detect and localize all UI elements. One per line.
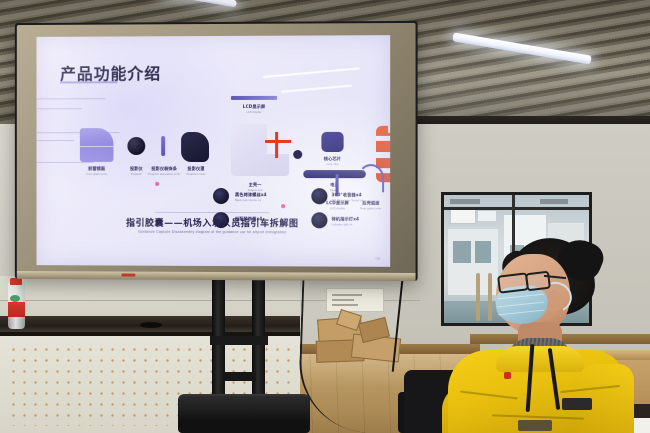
part-lcd-bar <box>231 96 277 100</box>
caption-divider <box>155 212 269 213</box>
part-shell2-notch <box>376 152 390 158</box>
part-label-projector-lens: 投影仪罩 <box>177 166 215 172</box>
part-screw-black <box>213 188 229 204</box>
door-decal <box>450 199 480 204</box>
water-bottle-label <box>8 302 25 317</box>
glasses-right-lens <box>525 271 551 292</box>
display-screen[interactable]: 产品功能介绍 前窗镜面 Front glass cover 投影仪 Projec… <box>36 35 390 267</box>
part-shell2-notch <box>376 136 390 141</box>
lanyard-clip-icon <box>504 372 511 379</box>
slide-decor-line <box>281 85 351 93</box>
part-label-battery: 电池 <box>317 182 351 188</box>
part-label-antenna: 后壳弧面 <box>354 200 388 206</box>
door-top-rail <box>444 207 589 210</box>
jacket-pocket <box>562 398 592 410</box>
part-camera <box>127 137 145 155</box>
exterior-ac-unit <box>478 211 496 221</box>
stand-joint <box>210 336 268 345</box>
slide-decor-line <box>36 140 73 141</box>
part-led-strip <box>336 174 339 196</box>
slide-accent-dot <box>155 182 159 186</box>
part-label-main-shell-1: 主壳一 <box>235 182 275 188</box>
part-sublabel-antenna: Rear glass cover <box>352 207 390 210</box>
part-sublabel-screw-black: Black paint screw x4 <box>235 199 295 202</box>
part-shell2-tab <box>388 126 390 133</box>
slide-page-number: 08 <box>376 256 381 261</box>
slide-accent-dot <box>281 204 285 208</box>
slide-decor-line <box>36 108 81 109</box>
stand-base <box>178 396 310 433</box>
slide-title-underline <box>60 81 117 83</box>
door-decal <box>540 199 568 204</box>
stand-crossbar <box>222 372 256 381</box>
presentation-slide: 产品功能介绍 前窗镜面 Front glass cover 投影仪 Projec… <box>36 35 390 267</box>
part-sublabel-front-glass: Front glass cover <box>70 173 123 176</box>
part-sublabel-lcd-display: LCD display <box>231 111 277 114</box>
slide-decor-line <box>263 67 360 78</box>
water-bottle-logo-icon <box>10 295 20 302</box>
part-antenna-arc <box>358 164 384 192</box>
slide-caption-english: Guidance Capsule Disassembly diagram of … <box>36 229 390 234</box>
jacket-pocket <box>518 420 552 431</box>
part-core-chip <box>321 132 343 152</box>
jacket-collar <box>496 346 584 372</box>
part-label-front-glass: 前窗镜面 <box>70 166 123 172</box>
part-sublabel-led-strip: LCD display <box>319 207 355 210</box>
slide-decor-line <box>36 162 93 163</box>
part-projector-lens <box>181 132 209 162</box>
part-label-core-chip: 核心芯片 <box>313 156 351 162</box>
part-front-glass-seam <box>80 146 114 147</box>
slide-accent-dot-dark <box>293 150 302 159</box>
part-label-lcd-display: LCD显示屏 <box>231 104 277 110</box>
slide-decor-line <box>36 98 105 99</box>
presentation-display[interactable]: 产品功能介绍 前窗镜面 Front glass cover 投影仪 Projec… <box>15 21 418 281</box>
slide-caption: 指引胶囊——机场入境人员指引车拆解图 <box>36 216 390 230</box>
exterior-ac-unit <box>450 209 476 224</box>
part-label-speaker: 360°收音器x4 <box>331 192 388 198</box>
part-sublabel-projector-lens: Projector cover <box>175 173 217 176</box>
part-shell1-accent-vertical <box>275 132 278 158</box>
room-scene: 产品功能介绍 前窗镜面 Front glass cover 投影仪 Projec… <box>0 0 650 433</box>
power-led-icon <box>121 274 135 277</box>
glasses-left-lens <box>497 272 529 294</box>
part-label-screw-black: 黑色烤漆螺丝x4 <box>235 192 291 198</box>
part-front-glass <box>80 128 114 162</box>
person <box>440 238 650 433</box>
counter-cable-grommet <box>140 322 162 328</box>
part-sublabel-core-chip: Core chip <box>313 163 351 166</box>
water-bottle-cap <box>10 278 22 285</box>
part-label-led-strip: LCD显示屏 <box>319 200 355 206</box>
part-sensor-strip <box>161 136 165 156</box>
